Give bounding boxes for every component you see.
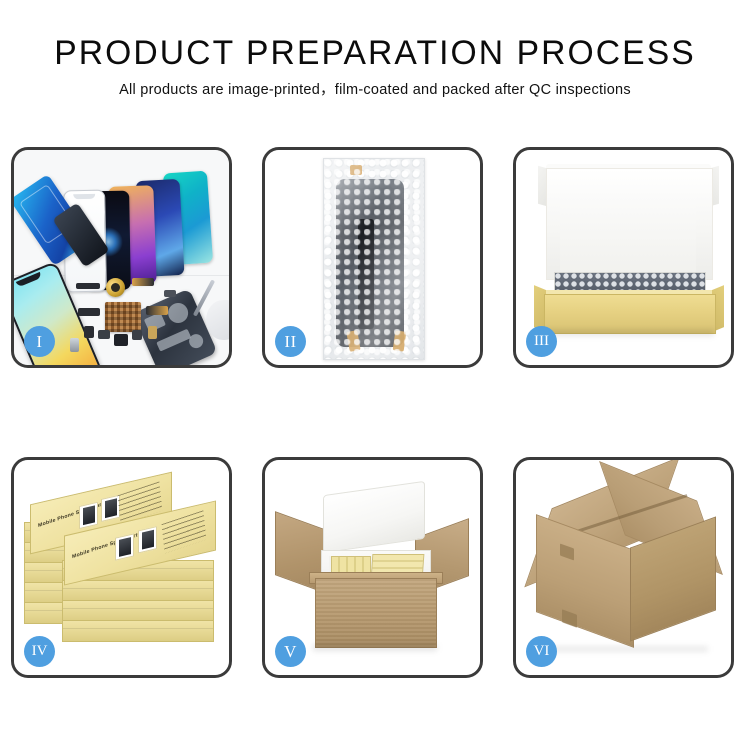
camera-lens-ring-icon — [106, 278, 125, 297]
step-badge-1: I — [24, 326, 55, 357]
retail-box-edge — [62, 620, 214, 642]
step-badge-6: VI — [526, 636, 557, 667]
box-window-icon — [138, 526, 157, 553]
process-step-panel-1[interactable]: I — [11, 147, 232, 368]
flex-cable-icon — [132, 278, 154, 286]
drop-shadow — [540, 646, 708, 652]
process-step-panel-5[interactable]: V — [262, 457, 483, 678]
small-part-icon — [98, 330, 110, 339]
page-title: PRODUCT PREPARATION PROCESS — [4, 34, 747, 72]
box-front-panel — [544, 294, 716, 334]
battery-connector-icon — [148, 326, 157, 339]
carton-body — [315, 578, 437, 648]
step-badge-2: II — [275, 326, 306, 357]
flex-cable-icon — [76, 283, 100, 289]
process-step-panel-2[interactable]: II — [262, 147, 483, 368]
sim-tray-icon — [70, 338, 79, 352]
speaker-part-icon — [114, 334, 128, 346]
process-step-panel-4[interactable]: Mobile Phone Spare Parts Mobile Phone Sp… — [11, 457, 232, 678]
process-step-panel-3[interactable]: III — [513, 147, 734, 368]
plastic-sheen — [324, 159, 424, 359]
retail-box-edge — [62, 580, 214, 602]
step-badge-5: V — [275, 636, 306, 667]
small-part-icon — [84, 326, 94, 338]
retail-box-stack: Mobile Phone Spare Parts Mobile Phone Sp… — [22, 482, 224, 654]
bubble-wrap-bag-icon — [323, 158, 425, 360]
box-window-icon — [115, 533, 134, 560]
step-badge-4: IV — [24, 636, 55, 667]
process-step-grid: I II — [11, 147, 740, 678]
retail-box-edge — [62, 600, 214, 622]
small-part-icon — [132, 330, 142, 340]
process-step-panel-6[interactable]: VI — [513, 457, 734, 678]
page-subtitle: All products are image-printed，film-coat… — [0, 81, 750, 99]
product-preparation-page: PRODUCT PREPARATION PROCESS All products… — [0, 0, 750, 750]
step-badge-3: III — [526, 326, 557, 357]
box-window-icon — [79, 502, 98, 529]
small-part-icon — [164, 290, 176, 297]
page-header: PRODUCT PREPARATION PROCESS All products… — [0, 34, 750, 99]
flex-cable-icon — [146, 306, 168, 315]
drop-shadow — [313, 644, 437, 651]
logic-board-chip-icon — [105, 302, 141, 332]
drop-shadow — [544, 330, 714, 336]
foam-sheet-icon — [560, 196, 696, 274]
box-spec-text-lines — [162, 510, 207, 553]
flex-cable-icon — [78, 308, 100, 316]
